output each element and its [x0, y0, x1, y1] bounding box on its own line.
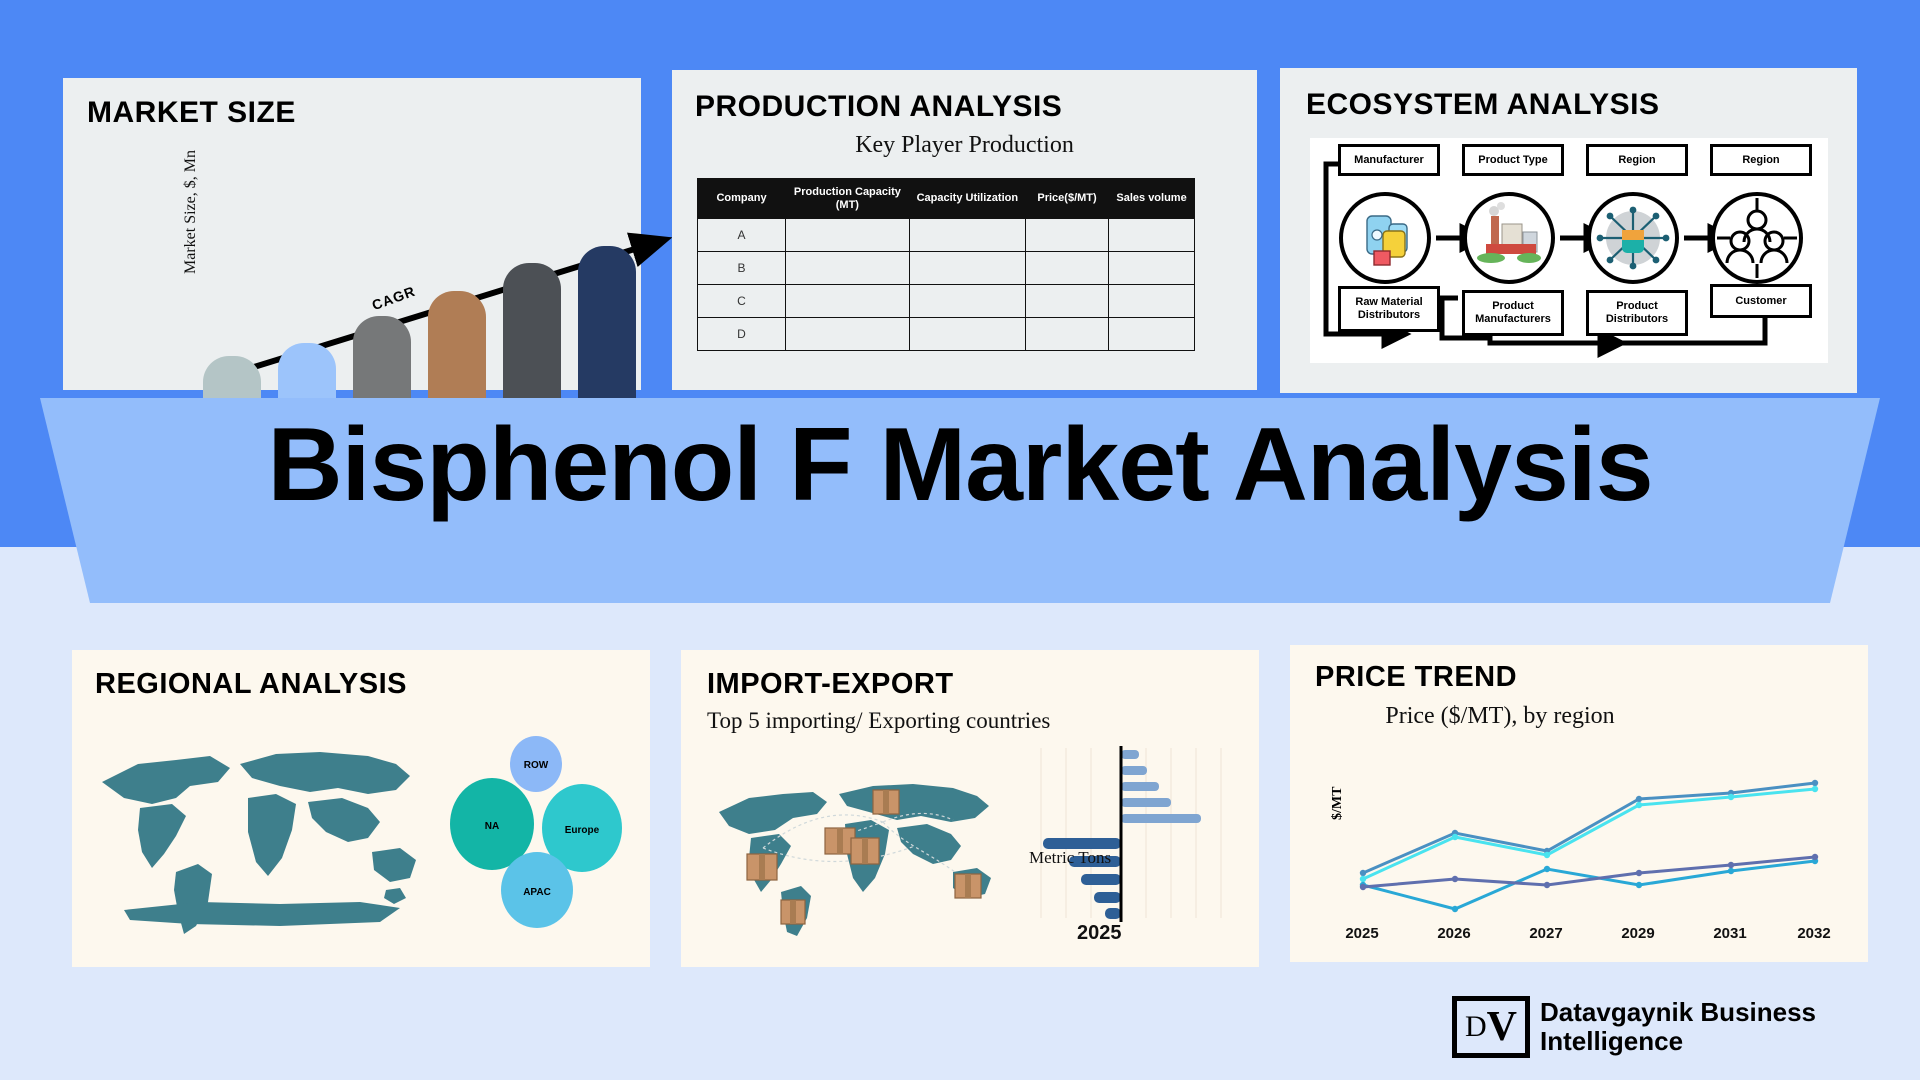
cell-capacity — [786, 285, 910, 318]
cell-volume — [1109, 285, 1195, 318]
cell-price — [1025, 252, 1108, 285]
cell-utilization — [909, 318, 1025, 351]
column-header-sales-volume: Sales volume — [1109, 179, 1195, 219]
ecosystem-analysis-title: ECOSYSTEM ANALYSIS — [1306, 88, 1660, 122]
cell-capacity — [786, 252, 910, 285]
cell-company: C — [698, 285, 786, 318]
cell-company: D — [698, 318, 786, 351]
price-trend-x-axis: 2025 2026 2027 2029 2031 2032 — [1345, 925, 1845, 949]
cell-company: A — [698, 219, 786, 252]
production-analysis-subtitle: Key Player Production — [672, 132, 1257, 159]
price-trend-panel: PRICE TREND Price ($/MT), by region $/MT — [1290, 645, 1868, 962]
price-trend-subtitle: Price ($/MT), by region — [1350, 701, 1650, 731]
cell-price — [1025, 219, 1108, 252]
logo-mark-dv: D V — [1452, 996, 1530, 1058]
cell-price — [1025, 285, 1108, 318]
production-analysis-panel: PRODUCTION ANALYSIS Key Player Productio… — [672, 70, 1257, 390]
eco-top-label-product-type: Product Type — [1462, 144, 1564, 176]
price-tick-2032: 2032 — [1779, 925, 1849, 942]
world-map-icon — [80, 712, 430, 952]
table-row: D — [698, 318, 1195, 351]
region-bubble-chart: ROW NA Europe APAC — [432, 712, 642, 952]
table-row: C — [698, 285, 1195, 318]
eco-bottom-label-raw-material-distributors: Raw Material Distributors — [1338, 286, 1440, 332]
eco-top-label-region-1: Region — [1586, 144, 1688, 176]
cell-utilization — [909, 285, 1025, 318]
price-tick-2029: 2029 — [1603, 925, 1673, 942]
production-analysis-title: PRODUCTION ANALYSIS — [695, 90, 1062, 124]
eco-top-label-region-2: Region — [1710, 144, 1812, 176]
cell-volume — [1109, 318, 1195, 351]
eco-bottom-label-customer: Customer — [1710, 284, 1812, 318]
column-header-price: Price($/MT) — [1025, 179, 1108, 219]
market-size-y-axis-label: Market Size, $, Mn — [182, 114, 200, 274]
ecosystem-analysis-panel: ECOSYSTEM ANALYSIS — [1280, 68, 1857, 393]
bar-2031 — [503, 263, 561, 411]
svg-text:NA: NA — [485, 821, 499, 832]
svg-text:Europe: Europe — [565, 825, 600, 836]
logo-line-1: Datavgaynik Business — [1540, 998, 1816, 1027]
import-export-axis-label: Metric Tons — [1029, 848, 1111, 868]
import-export-panel: IMPORT-EXPORT Top 5 importing/ Exporting… — [681, 650, 1259, 967]
cell-volume — [1109, 252, 1195, 285]
distribution-network-icon — [1597, 207, 1670, 270]
price-trend-line-chart — [1345, 773, 1845, 918]
cell-utilization — [909, 252, 1025, 285]
ecosystem-flow-diagram: Manufacturer Product Type Region Region … — [1310, 138, 1828, 363]
cell-utilization — [909, 219, 1025, 252]
svg-text:APAC: APAC — [523, 887, 551, 898]
bar-2032 — [578, 246, 636, 411]
logo-letter-d: D — [1465, 1010, 1487, 1044]
bar-2029 — [428, 291, 486, 411]
table-header-row: Company Production Capacity (MT) Capacit… — [698, 179, 1195, 219]
column-header-capacity-utilization: Capacity Utilization — [909, 179, 1025, 219]
regional-analysis-title: REGIONAL ANALYSIS — [95, 668, 407, 701]
eco-top-label-manufacturer: Manufacturer — [1338, 144, 1440, 176]
eco-bottom-label-product-distributors: Product Distributors — [1586, 290, 1688, 336]
market-size-panel: MARKET SIZE Market Size, $, Mn CAGR 2025… — [63, 78, 641, 390]
eco-bottom-label-product-manufacturers: Product Manufacturers — [1462, 290, 1564, 336]
bar-2027 — [353, 316, 411, 411]
price-tick-2027: 2027 — [1511, 925, 1581, 942]
cell-capacity — [786, 219, 910, 252]
price-tick-2026: 2026 — [1419, 925, 1489, 942]
table-row: B — [698, 252, 1195, 285]
cell-capacity — [786, 318, 910, 351]
price-tick-2025: 2025 — [1327, 925, 1397, 942]
import-export-title: IMPORT-EXPORT — [707, 668, 954, 701]
price-trend-y-axis-label: $/MT — [1330, 787, 1346, 820]
logo-wordmark: Datavgaynik Business Intelligence — [1540, 998, 1816, 1056]
table-row: A — [698, 219, 1195, 252]
main-title: Bisphenol F Market Analysis — [0, 398, 1920, 533]
column-header-production-capacity: Production Capacity (MT) — [786, 179, 910, 219]
regional-analysis-panel: REGIONAL ANALYSIS ROW NA Europe APAC — [72, 650, 650, 967]
price-trend-title: PRICE TREND — [1315, 661, 1517, 694]
logo-letter-v: V — [1487, 1003, 1517, 1051]
cell-volume — [1109, 219, 1195, 252]
cell-company: B — [698, 252, 786, 285]
key-player-production-table: Company Production Capacity (MT) Capacit… — [697, 178, 1195, 351]
cell-price — [1025, 318, 1108, 351]
trade-flow-map-icon — [701, 750, 1011, 940]
import-export-diverging-bar-chart — [1021, 742, 1241, 942]
svg-text:ROW: ROW — [524, 760, 549, 771]
column-header-company: Company — [698, 179, 786, 219]
import-export-subtitle: Top 5 importing/ Exporting countries — [707, 708, 1050, 734]
logo-line-2: Intelligence — [1540, 1027, 1816, 1056]
price-tick-2031: 2031 — [1695, 925, 1765, 942]
import-export-year-label: 2025 — [1077, 922, 1122, 945]
brand-logo: D V Datavgaynik Business Intelligence — [1452, 988, 1862, 1066]
